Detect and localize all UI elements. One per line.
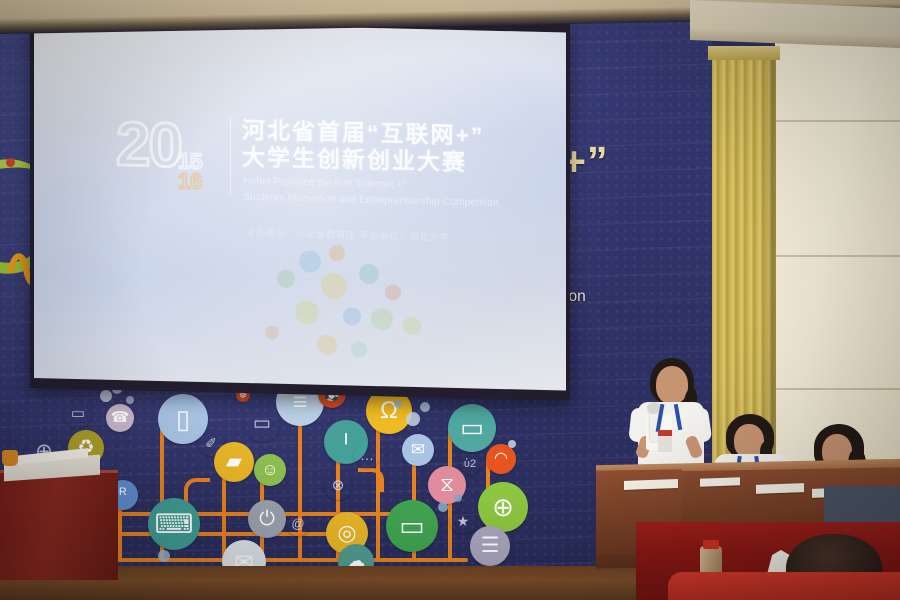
- slide-title: 河北省首届“互联网+” 大学生创新创业大赛: [242, 117, 542, 178]
- photo-scene: 联网+” 大赛 hip Competition ∿ ♫↻⊕♻▭☎ᴿ⌨▯✐▰☺⏻@…: [0, 0, 900, 600]
- audience-seat: [668, 572, 900, 600]
- laptop-wifi-icon: ⌨: [148, 498, 200, 550]
- decor-dot: [158, 550, 170, 562]
- curtain-valance: [708, 46, 780, 60]
- projection-screen: 20 15 16 河北省首届“互联网+” 大学生创新创业大赛 Hebei Pro…: [34, 20, 566, 391]
- search-remove-icon: ⊗: [324, 472, 352, 500]
- monitor-wifi-icon: ▭: [386, 500, 438, 552]
- table-paper: [756, 483, 804, 494]
- podium: [0, 470, 118, 580]
- decor-dot: [266, 526, 276, 536]
- logo-16-text: 16: [178, 171, 202, 192]
- envelope-icon: ✉: [402, 434, 434, 466]
- slide-organizer-line: 主办单位：河北省教育厅 承办单位：河北大学: [246, 225, 546, 246]
- slide-divider: [230, 117, 231, 195]
- slide-subtitle: Hebei Province the first "Internet +" St…: [243, 173, 553, 213]
- decor-dot: [508, 440, 516, 448]
- ceiling-beam-right: [690, 0, 900, 48]
- at-sign-icon: @: [286, 512, 310, 536]
- folder-icon: ▰: [214, 442, 254, 482]
- wall-seam: [775, 388, 900, 390]
- wifi-signal-icon: ◠: [486, 444, 516, 474]
- decor-dot: [420, 402, 430, 412]
- wall-seam: [775, 120, 900, 122]
- tablet-icon: ▭: [448, 404, 496, 452]
- decor-dot: [394, 400, 402, 408]
- table-paper: [700, 477, 740, 486]
- decor-dot: [406, 412, 420, 426]
- dots-bubble-icon: …: [354, 442, 380, 468]
- battery-icon: ☰: [470, 526, 510, 566]
- star-icon: ★: [450, 508, 476, 534]
- speech-bubble-icon: ▭: [64, 400, 92, 428]
- cellphone-old-icon: ☎: [106, 404, 134, 432]
- logo-20-text: 20: [116, 114, 228, 179]
- decor-dot: [438, 502, 448, 512]
- wall-seam: [775, 255, 900, 257]
- slide-year-logo: 20 15 16: [116, 114, 228, 205]
- slide-content: 20 15 16 河北省首届“互联网+” 大学生创新创业大赛 Hebei Pro…: [34, 20, 566, 391]
- decor-red-dot: [6, 158, 15, 167]
- slide-bubble-graphic: [259, 243, 449, 377]
- chat-bubble-icon: ▭: [244, 406, 280, 442]
- water-bottle-cap: [703, 540, 719, 549]
- podium-cup: [2, 450, 18, 466]
- lock-icon: ὑ2: [460, 454, 480, 474]
- table-paper: [624, 479, 678, 490]
- presenter-id-badge: [658, 430, 672, 452]
- decor-dot: [454, 494, 462, 502]
- decor-dot: [126, 396, 134, 404]
- decor-dot: [100, 390, 112, 402]
- globe-grid-icon: ⊕: [478, 482, 528, 532]
- tree-stem-curve: [358, 468, 384, 492]
- user-icon: ☺: [254, 454, 286, 486]
